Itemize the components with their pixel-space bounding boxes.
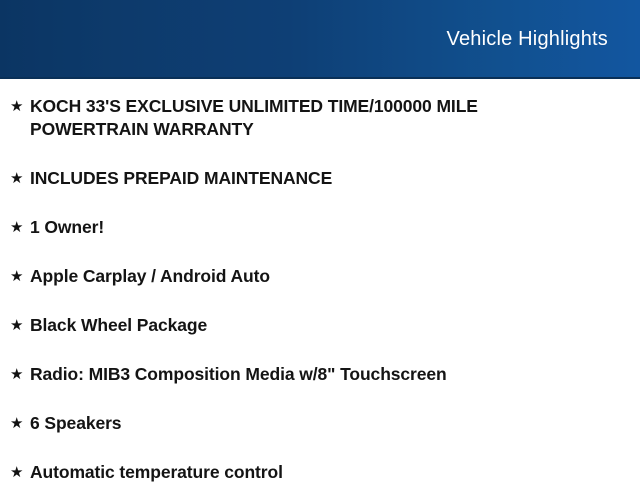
page-title: Vehicle Highlights <box>447 28 640 51</box>
star-icon: ★ <box>10 265 30 288</box>
vehicle-highlights-page: Vehicle Highlights ★ KOCH 33'S EXCLUSIVE… <box>0 0 640 480</box>
highlight-text: Black Wheel Package <box>30 314 626 337</box>
star-icon: ★ <box>10 314 30 337</box>
list-item: ★ Radio: MIB3 Composition Media w/8" Tou… <box>10 363 626 386</box>
highlight-text: 6 Speakers <box>30 412 626 435</box>
list-item: ★ 6 Speakers <box>10 412 626 435</box>
highlight-text: INCLUDES PREPAID MAINTENANCE <box>30 167 626 190</box>
vehicle-highlights-list: ★ KOCH 33'S EXCLUSIVE UNLIMITED TIME/100… <box>0 79 640 484</box>
list-item: ★ Automatic temperature control <box>10 461 626 484</box>
highlight-text: Automatic temperature control <box>30 461 626 484</box>
highlight-text: Apple Carplay / Android Auto <box>30 265 626 288</box>
star-icon: ★ <box>10 167 30 190</box>
list-item: ★ Black Wheel Package <box>10 314 626 337</box>
highlight-text: Radio: MIB3 Composition Media w/8" Touch… <box>30 363 626 386</box>
highlight-text: KOCH 33'S EXCLUSIVE UNLIMITED TIME/10000… <box>30 95 626 141</box>
highlight-text: 1 Owner! <box>30 216 626 239</box>
star-icon: ★ <box>10 95 30 118</box>
list-item: ★ 1 Owner! <box>10 216 626 239</box>
list-item: ★ Apple Carplay / Android Auto <box>10 265 626 288</box>
star-icon: ★ <box>10 412 30 435</box>
star-icon: ★ <box>10 363 30 386</box>
list-item: ★ KOCH 33'S EXCLUSIVE UNLIMITED TIME/100… <box>10 95 626 141</box>
star-icon: ★ <box>10 461 30 484</box>
list-item: ★ INCLUDES PREPAID MAINTENANCE <box>10 167 626 190</box>
header-banner: Vehicle Highlights <box>0 0 640 79</box>
star-icon: ★ <box>10 216 30 239</box>
